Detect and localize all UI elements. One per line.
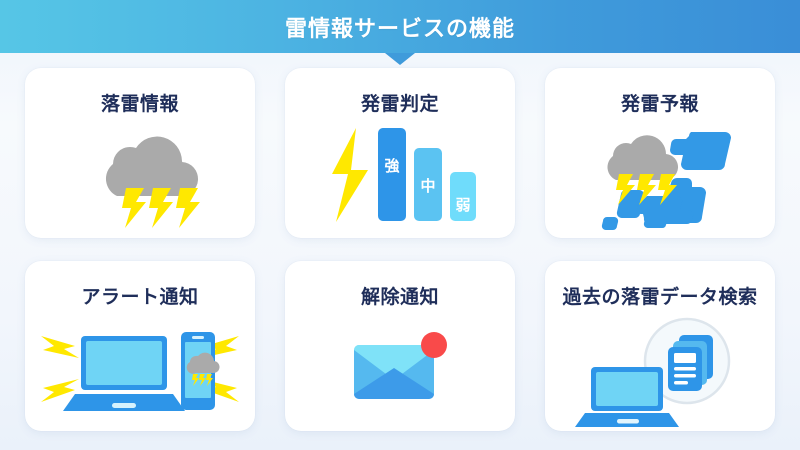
smartphone-icon bbox=[181, 332, 220, 410]
documents-icon bbox=[668, 335, 713, 391]
feature-card-lightning-judgement[interactable]: 発雷判定 強 中 弱 bbox=[285, 68, 515, 238]
lightning-bar-chart-icon: 強 中 弱 bbox=[320, 126, 480, 226]
card-title: 過去の落雷データ検索 bbox=[545, 282, 775, 309]
card-artwork: 強 中 弱 bbox=[285, 120, 515, 232]
laptop-smartphone-alert-icon bbox=[35, 324, 245, 414]
feature-card-cancellation-notification[interactable]: 解除通知 bbox=[285, 261, 515, 431]
notification-badge-dot bbox=[421, 332, 447, 358]
japan-map-thundercloud-icon bbox=[585, 122, 735, 230]
feature-card-past-lightning-data-search[interactable]: 過去の落雷データ検索 bbox=[545, 261, 775, 431]
card-title: 発雷予報 bbox=[545, 89, 775, 116]
card-artwork bbox=[545, 313, 775, 425]
feature-card-lightning-strike-info[interactable]: 落雷情報 bbox=[25, 68, 255, 238]
card-artwork bbox=[285, 313, 515, 425]
header-notch-arrow bbox=[385, 53, 415, 65]
feature-card-lightning-forecast[interactable]: 発雷予報 bbox=[545, 68, 775, 238]
card-artwork bbox=[545, 120, 775, 232]
bar-label-medium: 中 bbox=[420, 177, 435, 195]
bar-label-weak: 弱 bbox=[455, 197, 470, 214]
laptop-icon bbox=[63, 336, 185, 411]
thundercloud-icon bbox=[75, 122, 205, 230]
card-artwork bbox=[25, 120, 255, 232]
laptop-documents-search-icon bbox=[575, 317, 745, 421]
page-title: 雷情報サービスの機能 bbox=[285, 11, 515, 43]
card-title: アラート通知 bbox=[25, 282, 255, 309]
bar-label-strong: 強 bbox=[384, 157, 399, 175]
card-artwork bbox=[25, 313, 255, 425]
feature-card-alert-notification[interactable]: アラート通知 bbox=[25, 261, 255, 431]
feature-card-grid: 落雷情報 発雷判定 強 中 弱 発雷予報 bbox=[25, 68, 775, 431]
lightning-bolt-icon bbox=[332, 128, 368, 222]
card-title: 解除通知 bbox=[285, 282, 515, 309]
page-header: 雷情報サービスの機能 bbox=[0, 0, 800, 53]
envelope-badge-icon bbox=[348, 329, 452, 409]
card-title: 落雷情報 bbox=[25, 89, 255, 116]
card-title: 発雷判定 bbox=[285, 89, 515, 116]
